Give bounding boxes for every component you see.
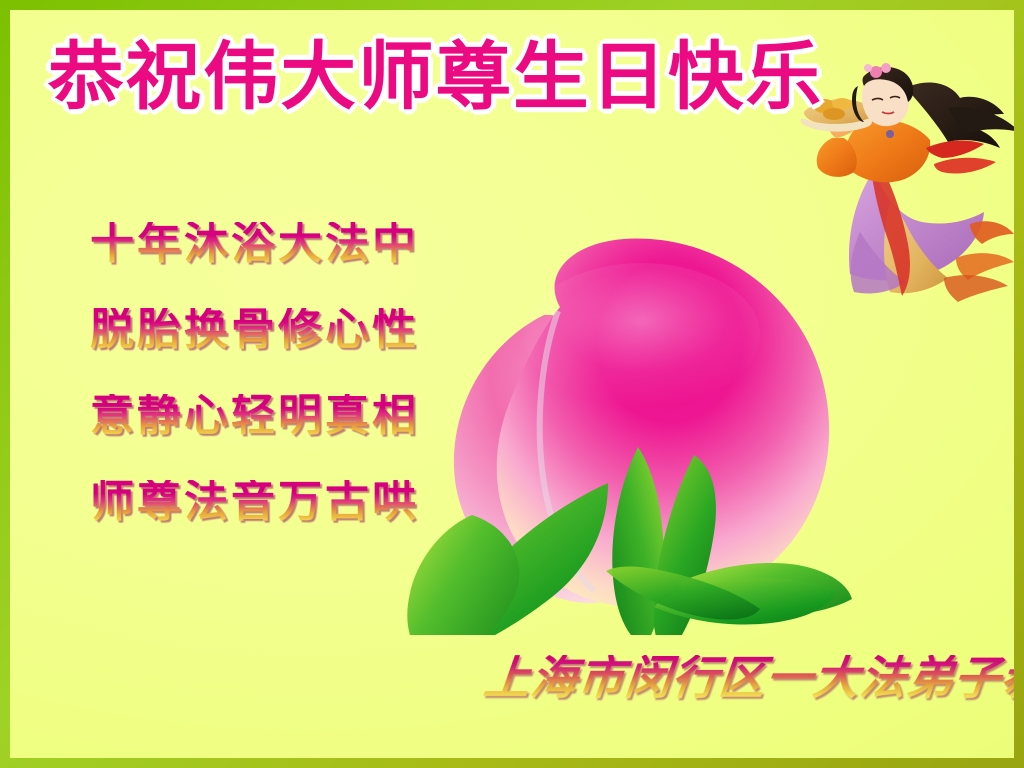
poem-block: 十年沐浴大法中 脱胎换骨修心性 意静心轻明真相 师尊法音万古哄 [90,222,419,532]
peach-illustration [392,215,852,635]
greeting-card: 恭祝伟大师尊生日快乐 十年沐浴大法中 脱胎换骨修心性 意静心轻明真相 师尊法音万… [0,0,1024,768]
card-canvas: 恭祝伟大师尊生日快乐 十年沐浴大法中 脱胎换骨修心性 意静心轻明真相 师尊法音万… [10,10,1014,758]
poem-line: 十年沐浴大法中 [90,222,419,274]
card-title: 恭祝伟大师尊生日快乐 [48,40,823,114]
celestial-maiden-illustration [798,52,1014,302]
card-signature: 上海市闵行区一大法弟子恭贺 [482,655,1014,701]
poem-line: 师尊法音万古哄 [90,480,419,532]
poem-line: 意静心轻明真相 [90,394,419,446]
poem-line: 脱胎换骨修心性 [90,308,419,360]
